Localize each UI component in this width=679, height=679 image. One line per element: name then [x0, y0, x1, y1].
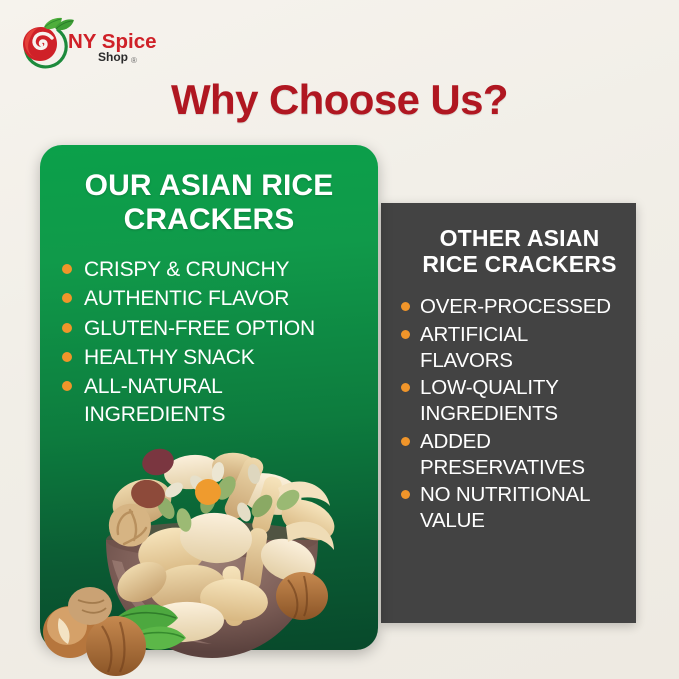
- list-item: NO NUTRITIONAL VALUE: [401, 482, 624, 534]
- list-item: CRISPY & CRUNCHY: [62, 256, 360, 283]
- our-crackers-card: OUR ASIAN RICE CRACKERS CRISPY & CRUNCHY…: [40, 145, 378, 650]
- other-crackers-card: OTHER ASIAN RICE CRACKERS OVER-PROCESSED…: [381, 203, 636, 623]
- list-item: ADDED PRESERVATIVES: [401, 429, 624, 481]
- other-crackers-title: OTHER ASIAN RICE CRACKERS: [393, 225, 624, 277]
- logo-text-shop: Shop: [98, 50, 128, 64]
- list-item: ALL-NATURAL INGREDIENTS: [62, 373, 360, 428]
- page-title: Why Choose Us?: [0, 76, 679, 124]
- brand-logo: NY Spice Shop ®: [14, 16, 174, 72]
- apple-swirl-leaf-logo-icon: NY Spice Shop ®: [14, 16, 174, 72]
- list-item: LOW-QUALITY INGREDIENTS: [401, 375, 624, 427]
- list-item: GLUTEN-FREE OPTION: [62, 315, 360, 342]
- other-crackers-list: OVER-PROCESSED ARTIFICIAL FLAVORS LOW-QU…: [393, 294, 624, 534]
- list-item: OVER-PROCESSED: [401, 294, 624, 320]
- list-item: HEALTHY SNACK: [62, 344, 360, 371]
- infographic-canvas: NY Spice Shop ® Why Choose Us? OTHER ASI…: [0, 0, 679, 679]
- our-crackers-title: OUR ASIAN RICE CRACKERS: [58, 169, 360, 236]
- list-item: AUTHENTIC FLAVOR: [62, 285, 360, 312]
- our-crackers-list: CRISPY & CRUNCHY AUTHENTIC FLAVOR GLUTEN…: [58, 256, 360, 428]
- list-item: ARTIFICIAL FLAVORS: [401, 322, 624, 374]
- logo-trademark: ®: [131, 56, 137, 65]
